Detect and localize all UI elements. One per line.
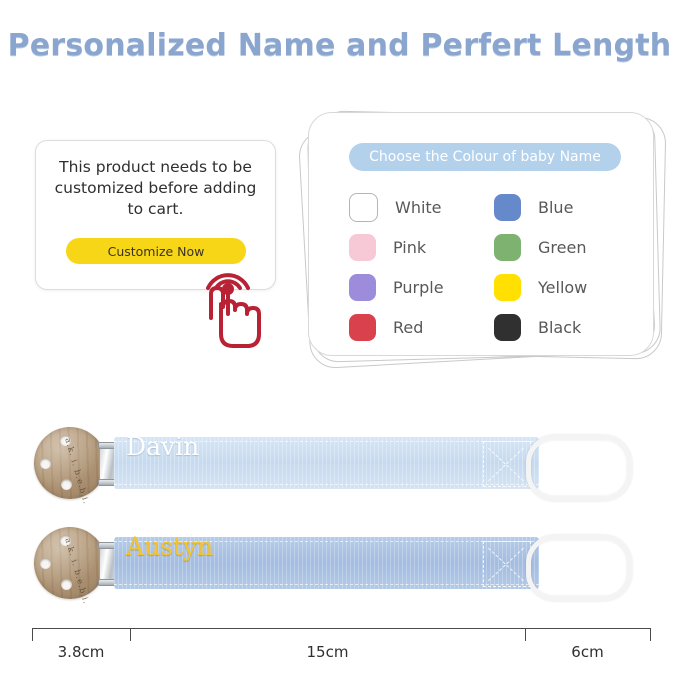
swatch-option-red[interactable]: Red (349, 307, 494, 347)
colour-card: Choose the Colour of baby Name White Blu… (308, 112, 654, 356)
measurement-ruler: 3.8cm 15cm 6cm (0, 628, 679, 674)
clip-hole-icon (40, 558, 51, 569)
swatch-chip-black (494, 314, 521, 341)
clip-engraving-text: a.k. i. b.e.b.i. (63, 437, 91, 505)
customize-now-button[interactable]: Customize Now (66, 238, 246, 264)
swatch-option-pink[interactable]: Pink (349, 227, 494, 267)
ruler-tick (525, 628, 526, 641)
swatch-chip-blue (494, 194, 521, 221)
product-infographic: Personalized Name and Perfert Length Thi… (0, 0, 679, 679)
swatch-chip-green (494, 234, 521, 261)
swatch-chip-purple (349, 274, 376, 301)
pacifier-clip-product-1: a.k. i. b.e.b.i. Davin (30, 418, 650, 510)
customize-card: This product needs to be customized befo… (35, 140, 276, 290)
page-title: Personalized Name and Perfert Length (0, 28, 679, 63)
swatch-chip-red (349, 314, 376, 341)
swatch-chip-white (349, 193, 378, 222)
swatch-option-white[interactable]: White (349, 187, 494, 227)
colour-card-stack: Choose the Colour of baby Name White Blu… (296, 104, 668, 374)
clip-hole-icon (61, 579, 72, 590)
swatch-label-white: White (395, 198, 442, 217)
colour-swatch-grid: White Blue Pink Green Purple (349, 187, 639, 347)
pacifier-clip-product-2: a.k. i. b.e.b.i. Austyn (30, 518, 650, 610)
embroidered-name-1: Davin (126, 432, 199, 461)
customize-message: This product needs to be customized befo… (46, 157, 265, 220)
ruler-tick (32, 628, 33, 641)
swatch-label-blue: Blue (538, 198, 573, 217)
swatch-label-red: Red (393, 318, 423, 337)
elastic-loop (526, 435, 632, 501)
clip-hole-icon (61, 479, 72, 490)
swatch-label-pink: Pink (393, 238, 426, 257)
swatch-chip-yellow (494, 274, 521, 301)
swatch-option-purple[interactable]: Purple (349, 267, 494, 307)
swatch-label-black: Black (538, 318, 581, 337)
x-stitch-icon (483, 441, 531, 487)
swatch-label-green: Green (538, 238, 586, 257)
swatch-option-black[interactable]: Black (494, 307, 639, 347)
x-stitch-icon (483, 541, 531, 587)
clip-engraving-text: a.k. i. b.e.b.i. (63, 537, 91, 605)
swatch-option-green[interactable]: Green (494, 227, 639, 267)
swatch-option-blue[interactable]: Blue (494, 187, 639, 227)
ruler-tick (650, 628, 651, 641)
swatch-label-purple: Purple (393, 278, 444, 297)
ruler-tick (130, 628, 131, 641)
ruler-label-loop: 6cm (525, 643, 650, 661)
swatch-chip-pink (349, 234, 376, 261)
ruler-label-clip: 3.8cm (32, 643, 130, 661)
wooden-clip-disc: a.k. i. b.e.b.i. (34, 427, 106, 499)
swatch-option-yellow[interactable]: Yellow (494, 267, 639, 307)
ruler-baseline (32, 628, 650, 629)
colour-card-header: Choose the Colour of baby Name (349, 143, 621, 171)
clip-hole-icon (40, 458, 51, 469)
wooden-clip-disc: a.k. i. b.e.b.i. (34, 527, 106, 599)
swatch-label-yellow: Yellow (538, 278, 587, 297)
embroidered-name-2: Austyn (126, 532, 213, 561)
ruler-label-ribbon: 15cm (130, 643, 525, 661)
elastic-loop (526, 535, 632, 601)
